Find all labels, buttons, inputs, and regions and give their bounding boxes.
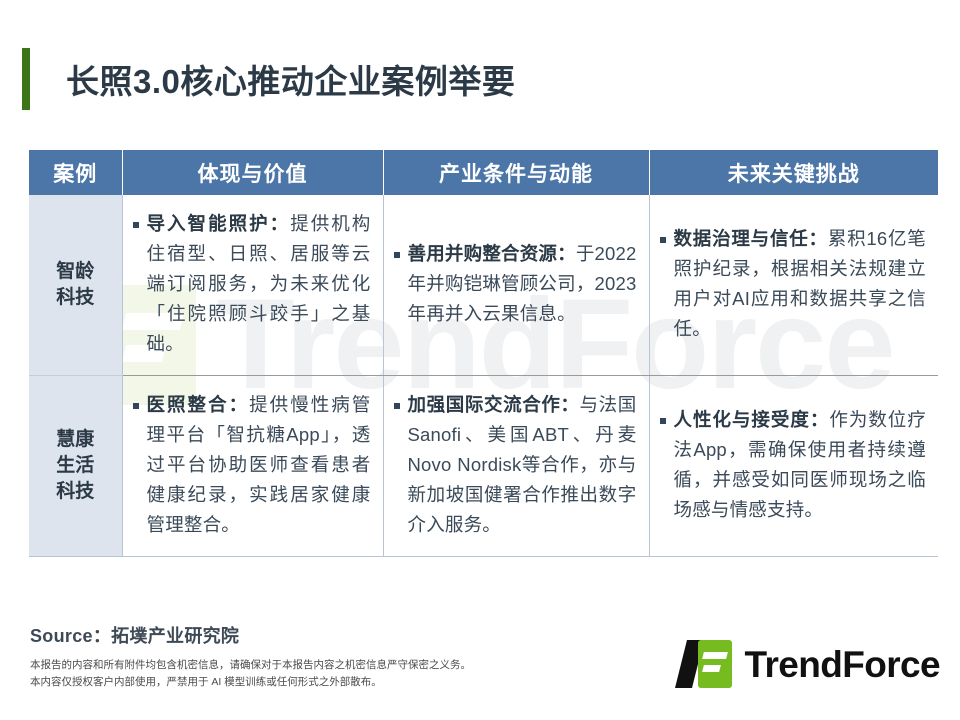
conditions-lead: 加强国际交流合作： (408, 394, 580, 415)
column-header-case: 案例 (29, 150, 122, 195)
challenges-cell: 数据治理与信任：累积16亿笔照护纪录，根据相关法规建立用户对AI应用和数据共享之… (649, 195, 938, 375)
value-cell: 医照整合：提供慢性病管理平台「智抗糖App」，透过平台协助医师查看患者健康纪录，… (122, 375, 383, 556)
disclaimer-line-1: 本报告的内容和所有附件均包含机密信息，请确保对于本报告内容之机密信息严守保密之义… (30, 657, 471, 674)
column-header-conditions: 产业条件与动能 (383, 150, 649, 195)
title-accent-bar (22, 48, 30, 110)
conditions-cell: 加强国际交流合作：与法国Sanofi、美国ABT、丹麦Novo Nordisk等… (383, 375, 649, 556)
slide-canvas: TrendForce 长照3.0核心推动企业案例举要 案例 体现与价值 产业条件… (0, 0, 960, 720)
trendforce-mark-icon (681, 638, 733, 690)
bullet-square-icon (394, 403, 400, 409)
table-row: 智龄科技 导入智能照护：提供机构住宿型、日照、居服等云端订阅服务，为未来优化「住… (29, 195, 938, 375)
disclaimer-line-2: 本内容仅授权客户内部使用，严禁用于 AI 模型训练或任何形式之外部散布。 (30, 674, 471, 691)
bullet-square-icon (133, 222, 139, 228)
value-text: 医照整合：提供慢性病管理平台「智抗糖App」，透过平台协助医师查看患者健康纪录，… (147, 390, 371, 540)
footer: Source：拓墣产业研究院 本报告的内容和所有附件均包含机密信息，请确保对于本… (30, 622, 471, 691)
conditions-lead: 善用并购整合资源： (408, 243, 576, 264)
conditions-text: 善用并购整合资源：于2022年并购铠琳管顾公司，2023年再并入云果信息。 (408, 239, 637, 329)
brand-name: TrendForce (745, 646, 941, 683)
case-table: 案例 体现与价值 产业条件与动能 未来关键挑战 智龄科技 导入智能照护：提供机构… (29, 150, 938, 557)
case-table-container: 案例 体现与价值 产业条件与动能 未来关键挑战 智龄科技 导入智能照护：提供机构… (29, 150, 938, 557)
conditions-text: 加强国际交流合作：与法国Sanofi、美国ABT、丹麦Novo Nordisk等… (408, 390, 637, 540)
bullet-square-icon (660, 418, 666, 424)
value-lead: 医照整合： (147, 394, 250, 415)
table-body: 智龄科技 导入智能照护：提供机构住宿型、日照、居服等云端订阅服务，为未来优化「住… (29, 195, 938, 556)
disclaimer: 本报告的内容和所有附件均包含机密信息，请确保对于本报告内容之机密信息严守保密之义… (30, 657, 471, 691)
challenges-lead: 数据治理与信任： (674, 228, 828, 249)
bullet-square-icon (660, 237, 666, 243)
bullet-square-icon (133, 403, 139, 409)
value-text: 导入智能照护：提供机构住宿型、日照、居服等云端订阅服务，为未来优化「住院照顾斗跤… (147, 209, 371, 359)
case-name-cell: 慧康生活科技 (29, 375, 122, 556)
challenges-lead: 人性化与接受度： (674, 409, 830, 430)
value-lead: 导入智能照护： (147, 213, 291, 234)
challenges-text: 数据治理与信任：累积16亿笔照护纪录，根据相关法规建立用户对AI应用和数据共享之… (674, 224, 927, 344)
case-name-cell: 智龄科技 (29, 195, 122, 375)
column-header-challenges: 未来关键挑战 (649, 150, 938, 195)
value-cell: 导入智能照护：提供机构住宿型、日照、居服等云端订阅服务，为未来优化「住院照顾斗跤… (122, 195, 383, 375)
table-row: 慧康生活科技 医照整合：提供慢性病管理平台「智抗糖App」，透过平台协助医师查看… (29, 375, 938, 556)
bullet-square-icon (394, 252, 400, 258)
conditions-cell: 善用并购整合资源：于2022年并购铠琳管顾公司，2023年再并入云果信息。 (383, 195, 649, 375)
column-header-value: 体现与价值 (122, 150, 383, 195)
challenges-cell: 人性化与接受度：作为数位疗法App，需确保使用者持续遵循，并感受如同医师现场之临… (649, 375, 938, 556)
page-title: 长照3.0核心推动企业案例举要 (22, 48, 515, 110)
brand-logo: TrendForce (681, 638, 941, 690)
challenges-text: 人性化与接受度：作为数位疗法App，需确保使用者持续遵循，并感受如同医师现场之临… (674, 405, 927, 525)
value-body: 提供机构住宿型、日照、居服等云端订阅服务，为未来优化「住院照顾斗跤手」之基础。 (147, 213, 371, 354)
table-header-row: 案例 体现与价值 产业条件与动能 未来关键挑战 (29, 150, 938, 195)
title-text: 长照3.0核心推动企业案例举要 (66, 55, 515, 103)
source-label: Source：拓墣产业研究院 (30, 622, 471, 648)
table-header: 案例 体现与价值 产业条件与动能 未来关键挑战 (29, 150, 938, 195)
